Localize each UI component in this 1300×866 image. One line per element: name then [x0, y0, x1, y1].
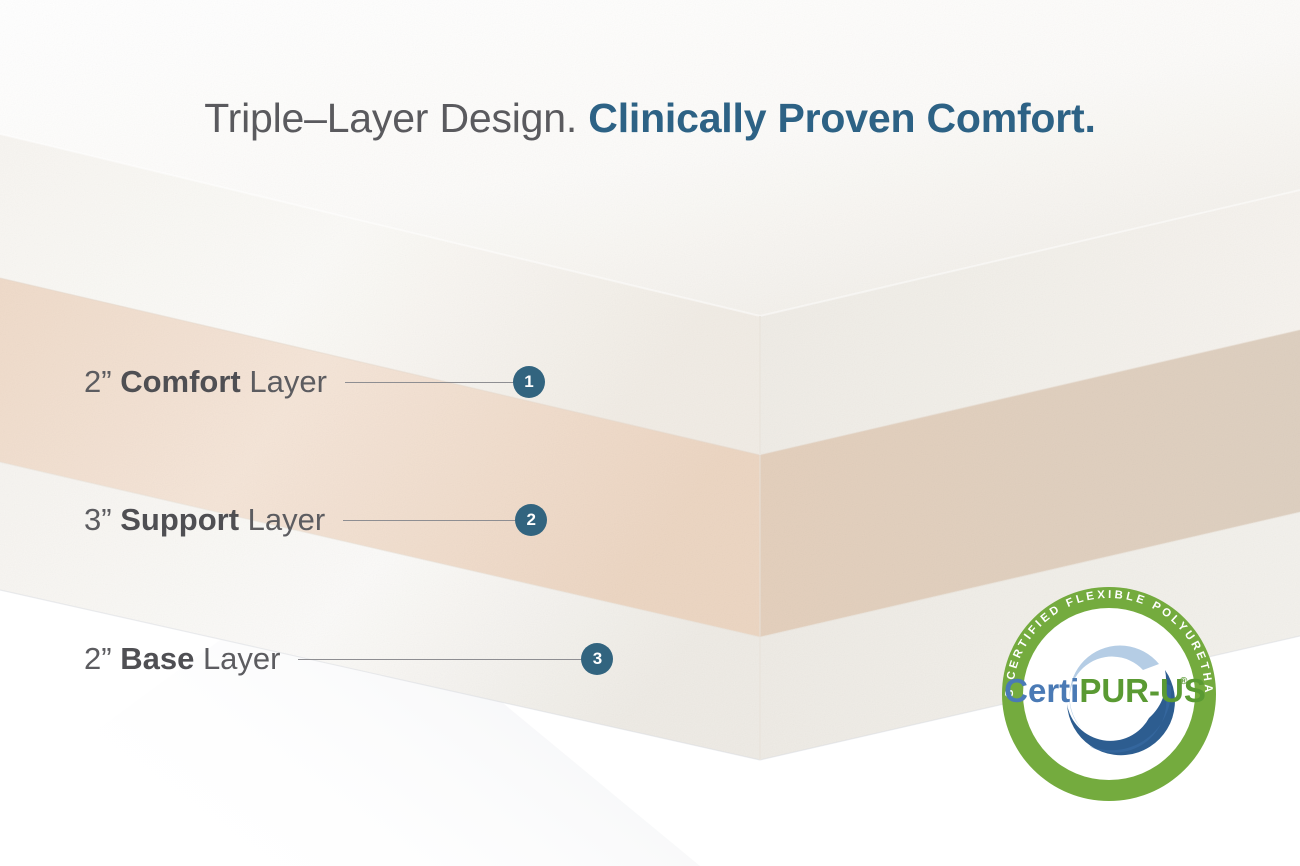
callout-comfort-layer: 2” Comfort Layer 1	[84, 360, 545, 404]
callout-marker-1: 1	[513, 366, 545, 398]
badge-wordmark-certi: Certi	[1004, 672, 1079, 709]
callout-label-support: 3” Support Layer	[84, 498, 325, 542]
callout-label-base: 2” Base Layer	[84, 637, 280, 681]
callout-name-3: Base	[120, 641, 194, 676]
callout-name-1: Comfort	[120, 364, 241, 399]
badge-wordmark: CertiPUR-US ®	[1004, 672, 1206, 709]
certipur-us-badge: CONTAINS CERTIFIED FLEXIBLE POLYURETHANE…	[993, 578, 1225, 810]
badge-registered-icon: ®	[1180, 676, 1188, 687]
callout-thickness-3: 2”	[84, 641, 112, 676]
callout-marker-3: 3	[581, 643, 613, 675]
callout-name-2: Support	[120, 502, 239, 537]
callout-label-comfort: 2” Comfort Layer	[84, 360, 327, 404]
callout-leader-line-2	[343, 520, 517, 521]
callout-base-layer: 2” Base Layer 3	[84, 637, 613, 681]
callout-marker-2: 2	[515, 504, 547, 536]
callout-thickness-2: 3”	[84, 502, 112, 537]
callout-suffix-1: Layer	[249, 364, 327, 399]
callout-suffix-2: Layer	[248, 502, 326, 537]
callout-leader-line-1	[345, 382, 515, 383]
callout-suffix-3: Layer	[203, 641, 281, 676]
svg-text:CertiPUR-US: CertiPUR-US	[1004, 672, 1206, 709]
callout-thickness-1: 2”	[84, 364, 112, 399]
product-infographic: Triple–Layer Design. Clinically Proven C…	[0, 0, 1300, 866]
callout-support-layer: 3” Support Layer 2	[84, 498, 547, 542]
callout-leader-line-3	[298, 659, 583, 660]
